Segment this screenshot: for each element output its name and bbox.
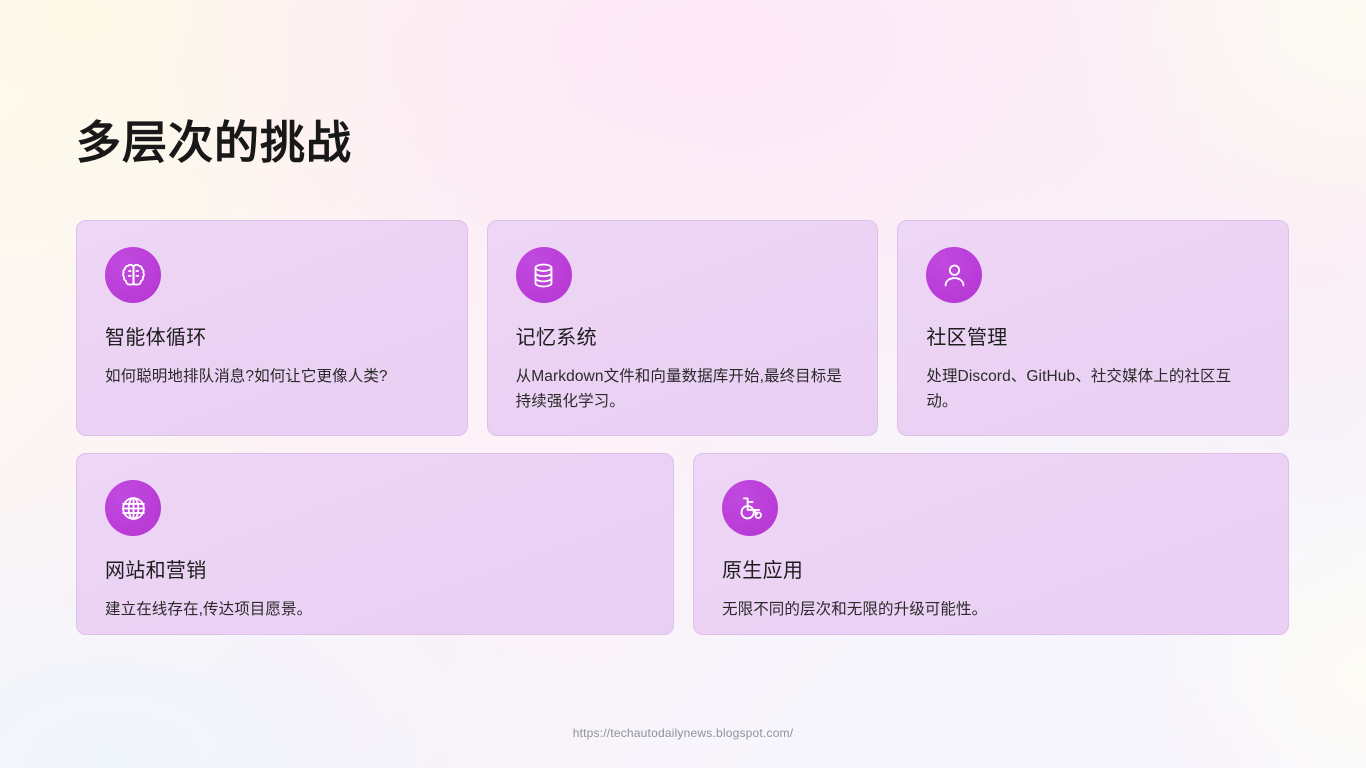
card-title: 记忆系统 <box>516 325 850 351</box>
card-agent-loop[interactable]: 智能体循环 如何聪明地排队消息?如何让它更像人类? <box>76 220 468 436</box>
card-description: 如何聪明地排队消息?如何让它更像人类? <box>105 364 439 389</box>
card-native-app[interactable]: 原生应用 无限不同的层次和无限的升级可能性。 <box>693 453 1289 635</box>
card-memory-system[interactable]: 记忆系统 从Markdown文件和向量数据库开始,最终目标是持续强化学习。 <box>487 220 879 436</box>
card-title: 网站和营销 <box>105 558 645 584</box>
card-title: 社区管理 <box>926 325 1260 351</box>
footer-url[interactable]: https://techautodailynews.blogspot.com/ <box>0 726 1366 740</box>
card-row-bottom: 网站和营销 建立在线存在,传达项目愿景。 原生应用 无限不同的层次和无限 <box>76 453 1289 635</box>
card-website-marketing[interactable]: 网站和营销 建立在线存在,传达项目愿景。 <box>76 453 674 635</box>
card-description: 无限不同的层次和无限的升级可能性。 <box>722 597 1260 622</box>
card-grid: 智能体循环 如何聪明地排队消息?如何让它更像人类? 记忆系统 从Markdown… <box>76 220 1289 635</box>
slide: 多层次的挑战 智能体循环 如何聪明地排队消息?如何让它更像人类? <box>0 0 1366 768</box>
card-row-top: 智能体循环 如何聪明地排队消息?如何让它更像人类? 记忆系统 从Markdown… <box>76 220 1289 436</box>
brain-icon <box>105 247 161 303</box>
card-description: 处理Discord、GitHub、社交媒体上的社区互动。 <box>926 364 1260 414</box>
card-title: 智能体循环 <box>105 325 439 351</box>
card-description: 建立在线存在,传达项目愿景。 <box>105 597 645 622</box>
card-title: 原生应用 <box>722 558 1260 584</box>
database-icon <box>516 247 572 303</box>
card-description: 从Markdown文件和向量数据库开始,最终目标是持续强化学习。 <box>516 364 850 414</box>
card-community-management[interactable]: 社区管理 处理Discord、GitHub、社交媒体上的社区互动。 <box>897 220 1289 436</box>
wheelchair-icon <box>722 480 778 536</box>
globe-icon <box>105 480 161 536</box>
page-title: 多层次的挑战 <box>76 116 352 169</box>
user-icon <box>926 247 982 303</box>
